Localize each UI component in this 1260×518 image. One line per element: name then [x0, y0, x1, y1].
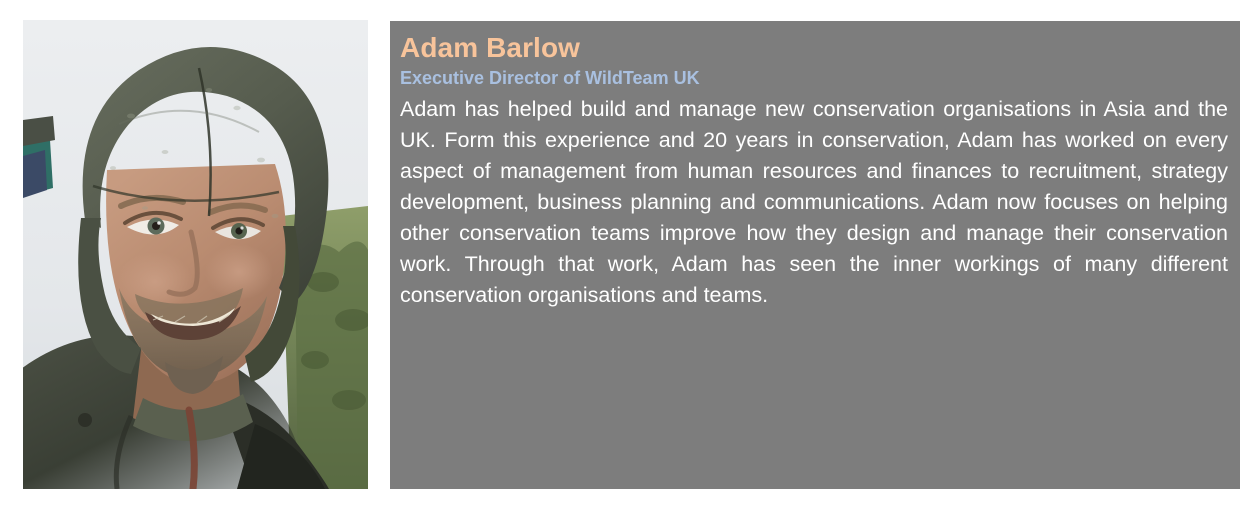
page-title: Adam Barlow: [400, 31, 1228, 65]
portrait-photo: [23, 20, 368, 489]
speaker-bio-card: Adam Barlow Executive Director of WildTe…: [0, 0, 1260, 518]
biography-text: Adam has helped build and manage new con…: [400, 90, 1228, 311]
portrait-photo-illustration: [23, 20, 368, 489]
job-title: Executive Director of WildTeam UK: [400, 65, 1228, 90]
bio-panel: Adam Barlow Executive Director of WildTe…: [390, 21, 1240, 489]
